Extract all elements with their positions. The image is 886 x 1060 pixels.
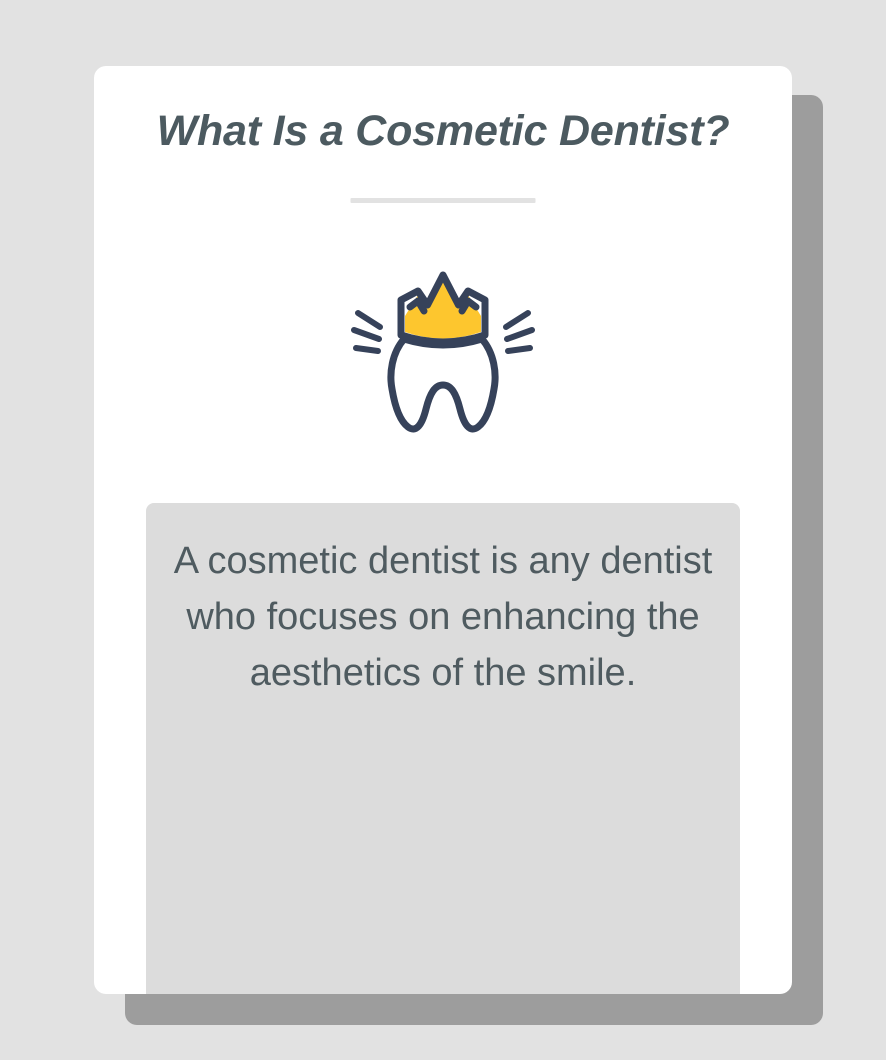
title-divider (351, 198, 536, 203)
slide-canvas: What Is a Cosmetic Dentist? (0, 0, 886, 1060)
page-title: What Is a Cosmetic Dentist? (94, 108, 792, 154)
sparkle-lines-left (354, 313, 380, 351)
crowned-tooth-icon-graphic (348, 261, 538, 441)
crowned-tooth-icon (348, 261, 538, 441)
body-text-panel: A cosmetic dentist is any dentist who fo… (146, 503, 740, 994)
tooth-outline (391, 339, 495, 429)
body-text: A cosmetic dentist is any dentist who fo… (172, 533, 714, 702)
sparkle-lines-right (506, 313, 532, 351)
content-card: What Is a Cosmetic Dentist? (94, 66, 792, 994)
